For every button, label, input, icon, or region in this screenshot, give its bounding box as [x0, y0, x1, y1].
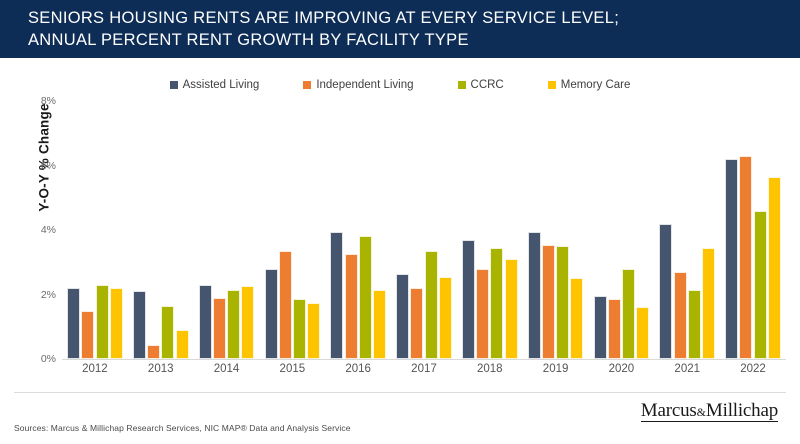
bar-independent-living-2018[interactable]: [476, 269, 489, 359]
bar-independent-living-2022[interactable]: [739, 156, 752, 359]
x-axis-tick-label: 2018: [457, 363, 523, 375]
bar-group-2018: [457, 101, 523, 359]
legend-swatch-icon: [170, 81, 178, 89]
y-axis-tick-label: 4%: [24, 224, 56, 236]
bar-independent-living-2014[interactable]: [213, 298, 226, 359]
y-axis-tick-label: 8%: [24, 95, 56, 107]
legend-swatch-icon: [303, 81, 311, 89]
x-axis-tick-label: 2014: [194, 363, 260, 375]
x-axis-tick-label: 2021: [654, 363, 720, 375]
chart-legend: Assisted LivingIndependent LivingCCRCMem…: [0, 76, 800, 94]
x-axis-tick-label: 2016: [325, 363, 391, 375]
bar-ccrc-2014[interactable]: [227, 290, 240, 359]
x-axis-tick-label: 2019: [523, 363, 589, 375]
bar-memory-care-2021[interactable]: [702, 248, 715, 359]
x-axis-tick-label: 2013: [128, 363, 194, 375]
bar-group-2013: [128, 101, 194, 359]
chart-page: SENIORS HOUSING RENTS ARE IMPROVING AT E…: [0, 0, 800, 444]
bar-independent-living-2012[interactable]: [81, 311, 94, 359]
bar-group-2016: [325, 101, 391, 359]
bar-ccrc-2015[interactable]: [293, 299, 306, 359]
bar-memory-care-2016[interactable]: [373, 290, 386, 359]
bar-assisted-living-2017[interactable]: [396, 274, 409, 359]
bar-assisted-living-2020[interactable]: [594, 296, 607, 359]
y-axis-tick-label: 6%: [24, 160, 56, 172]
bar-assisted-living-2014[interactable]: [199, 285, 212, 359]
bar-assisted-living-2015[interactable]: [265, 269, 278, 359]
bar-ccrc-2017[interactable]: [425, 251, 438, 359]
legend-item-independent-living[interactable]: Independent Living: [303, 79, 413, 91]
legend-label: Independent Living: [316, 79, 413, 91]
bar-ccrc-2012[interactable]: [96, 285, 109, 359]
source-note: Sources: Marcus & Millichap Research Ser…: [14, 423, 351, 433]
bar-ccrc-2020[interactable]: [622, 269, 635, 359]
y-axis-tick-label: 2%: [24, 289, 56, 301]
header-band: SENIORS HOUSING RENTS ARE IMPROVING AT E…: [0, 0, 800, 58]
bar-group-2012: [62, 101, 128, 359]
bar-groups: [62, 101, 786, 359]
bar-memory-care-2017[interactable]: [439, 277, 452, 359]
bar-independent-living-2015[interactable]: [279, 251, 292, 359]
legend-item-ccrc[interactable]: CCRC: [458, 79, 504, 91]
bar-group-2014: [194, 101, 260, 359]
bar-memory-care-2014[interactable]: [241, 286, 254, 359]
bar-group-2015: [259, 101, 325, 359]
bar-independent-living-2017[interactable]: [410, 288, 423, 359]
x-axis-tick-label: 2015: [259, 363, 325, 375]
legend-item-memory-care[interactable]: Memory Care: [548, 79, 631, 91]
x-axis-labels: 2012201320142015201620172018201920202021…: [62, 363, 786, 375]
bar-independent-living-2021[interactable]: [674, 272, 687, 359]
bar-assisted-living-2013[interactable]: [133, 291, 146, 359]
bar-memory-care-2022[interactable]: [768, 177, 781, 359]
x-axis-tick-label: 2012: [62, 363, 128, 375]
logo-word-marcus: Marcus: [641, 400, 697, 421]
bar-assisted-living-2016[interactable]: [330, 232, 343, 359]
x-axis-tick-label: 2020: [589, 363, 655, 375]
bar-memory-care-2019[interactable]: [570, 278, 583, 359]
bar-ccrc-2013[interactable]: [161, 306, 174, 359]
y-axis-tick-label: 0%: [24, 353, 56, 365]
x-axis-tick-label: 2017: [391, 363, 457, 375]
bar-independent-living-2020[interactable]: [608, 299, 621, 359]
legend-item-assisted-living[interactable]: Assisted Living: [170, 79, 260, 91]
bar-group-2017: [391, 101, 457, 359]
bar-independent-living-2016[interactable]: [345, 254, 358, 359]
bar-memory-care-2015[interactable]: [307, 303, 320, 359]
bar-memory-care-2018[interactable]: [505, 259, 518, 359]
bar-ccrc-2022[interactable]: [754, 211, 767, 359]
legend-label: CCRC: [471, 79, 504, 91]
x-axis-baseline: [62, 359, 786, 360]
bar-assisted-living-2019[interactable]: [528, 232, 541, 359]
legend-swatch-icon: [458, 81, 466, 89]
logo-word-millichap: Millichap: [706, 400, 778, 421]
bar-assisted-living-2021[interactable]: [659, 224, 672, 359]
legend-label: Memory Care: [561, 79, 631, 91]
logo-ampersand: &: [697, 405, 706, 419]
x-axis-tick-label: 2022: [720, 363, 786, 375]
bar-ccrc-2018[interactable]: [490, 248, 503, 359]
bar-assisted-living-2012[interactable]: [67, 288, 80, 359]
bar-assisted-living-2018[interactable]: [462, 240, 475, 359]
footer-divider: [14, 392, 786, 393]
bar-ccrc-2016[interactable]: [359, 236, 372, 359]
bar-independent-living-2013[interactable]: [147, 345, 160, 360]
bar-ccrc-2021[interactable]: [688, 290, 701, 359]
bar-group-2022: [720, 101, 786, 359]
bar-ccrc-2019[interactable]: [556, 246, 569, 359]
bar-memory-care-2020[interactable]: [636, 307, 649, 359]
page-title: SENIORS HOUSING RENTS ARE IMPROVING AT E…: [28, 7, 778, 51]
bar-independent-living-2019[interactable]: [542, 245, 555, 359]
bar-assisted-living-2022[interactable]: [725, 159, 738, 359]
bar-group-2019: [523, 101, 589, 359]
bar-group-2021: [654, 101, 720, 359]
marcus-millichap-logo: Marcus&Millichap: [641, 401, 778, 422]
bar-memory-care-2012[interactable]: [110, 288, 123, 359]
bar-group-2020: [589, 101, 655, 359]
bar-memory-care-2013[interactable]: [176, 330, 189, 359]
legend-swatch-icon: [548, 81, 556, 89]
legend-label: Assisted Living: [183, 79, 260, 91]
